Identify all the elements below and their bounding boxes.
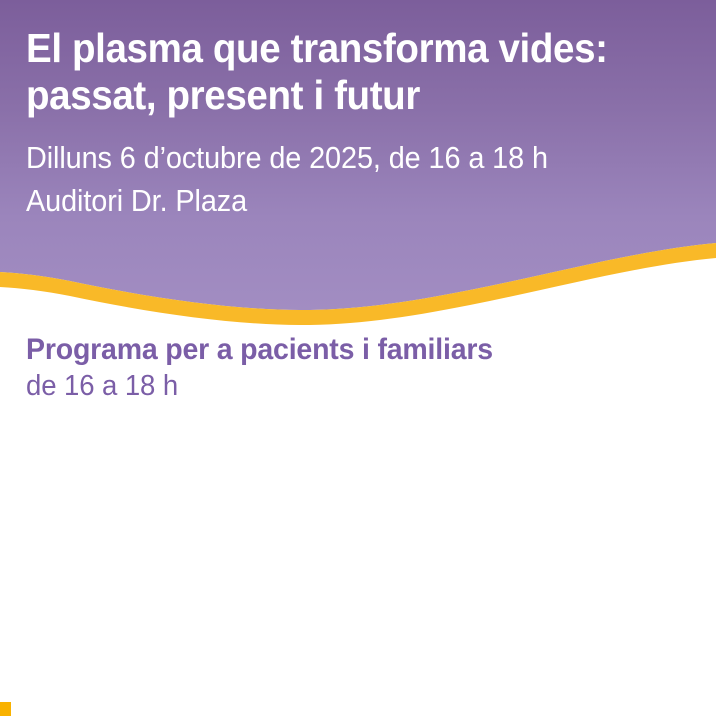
header-content: El plasma que transforma vides: passat, … <box>0 0 716 330</box>
poster-canvas: El plasma que transforma vides: passat, … <box>0 0 716 716</box>
program-time: de 16 a 18 h <box>26 368 682 404</box>
program-heading: Programa per a pacients i familiars <box>26 331 682 368</box>
event-date: Dilluns 6 d’octubre de 2025, de 16 a 18 … <box>26 136 668 179</box>
event-details: Dilluns 6 d’octubre de 2025, de 16 a 18 … <box>26 136 668 222</box>
header-band: El plasma que transforma vides: passat, … <box>0 0 716 330</box>
program-body-area <box>0 420 716 703</box>
page-title: El plasma que transforma vides: passat, … <box>26 25 675 119</box>
event-venue: Auditori Dr. Plaza <box>26 179 668 222</box>
program-section: Programa per a pacients i familiars de 1… <box>26 331 716 404</box>
corner-accent-square <box>0 702 11 716</box>
